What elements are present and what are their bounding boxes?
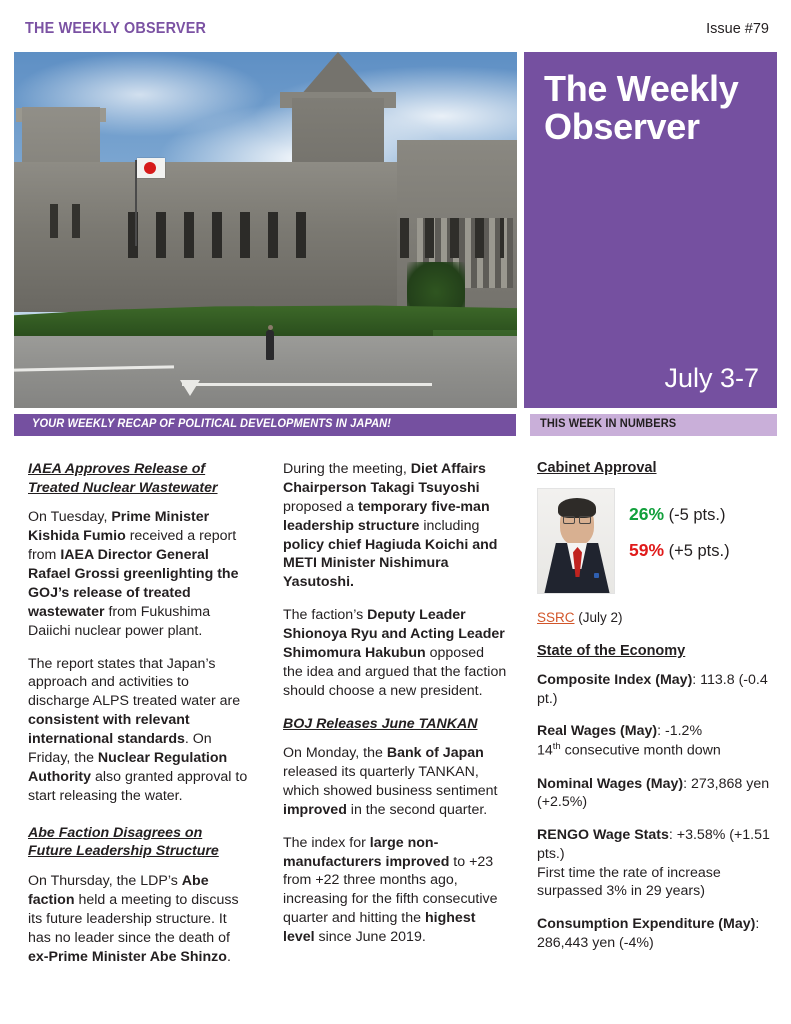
headline-iaea: IAEA Approves Release of Treated Nuclear… [28, 460, 250, 497]
numbers-bar-text: THIS WEEK IN NUMBERS [540, 418, 676, 430]
paragraph-iaea-1: On Tuesday, Prime Minister Kishida Fumio… [28, 508, 250, 640]
econ-item-real-wages: Real Wages (May): -1.2% 14th consecutive… [537, 722, 777, 760]
sidebar-numbers: Cabinet Approval 26% (-5 pts.) 59% (+5 p… [537, 460, 777, 967]
state-of-economy-title: State of the Economy [537, 643, 777, 659]
text-run: On Monday, the [283, 745, 387, 761]
road-marking-right [182, 383, 432, 386]
text-run: since June 2019. [315, 929, 426, 945]
poll-source: SSRC (July 2) [537, 610, 777, 625]
text-run-bold: Bank of Japan [387, 745, 484, 761]
econ-note: First time the rate of increase surpasse… [537, 865, 721, 900]
text-run: During the meeting, [283, 461, 411, 477]
approval-stats: 26% (-5 pts.) 59% (+5 pts.) [629, 504, 730, 576]
text-run: The index for [283, 835, 370, 851]
portrait-hair [558, 498, 596, 518]
paragraph-boj-2: The index for large non-manufacturers im… [283, 834, 507, 947]
masthead-title: The Weekly Observer [544, 70, 763, 146]
paragraph-boj-1: On Monday, the Bank of Japan released it… [283, 744, 507, 820]
econ-label: Consumption Expenditure (May) [537, 916, 755, 932]
econ-label: RENGO Wage Stats [537, 827, 669, 843]
brand-name: THE WEEKLY OBSERVER [25, 20, 206, 38]
econ-value: : -1.2% [657, 723, 702, 739]
text-run: proposed a [283, 499, 358, 515]
paragraph-abe-1: On Thursday, the LDP’s Abe faction held … [28, 872, 250, 966]
issue-number: Issue #79 [706, 21, 769, 37]
text-run: . [227, 949, 231, 965]
page-header: THE WEEKLY OBSERVER Issue #79 [0, 0, 791, 52]
portrait-glasses-left [563, 516, 575, 524]
text-run: including [419, 518, 479, 534]
column-one: IAEA Approves Release of Treated Nuclear… [28, 460, 250, 980]
paragraph-abe-3: The faction’s Deputy Leader Shionoya Ryu… [283, 606, 507, 700]
hero-photo-diet-building [14, 52, 517, 408]
cabinet-approval-title: Cabinet Approval [537, 460, 777, 476]
text-run: The report states that Japan’s approach … [28, 656, 240, 710]
masthead-block: The Weekly Observer July 3-7 [524, 52, 777, 408]
avatar-kishida-portrait [537, 488, 615, 594]
building-windows-left [36, 204, 88, 238]
pedestrian [266, 330, 274, 360]
road-arrow-marking [180, 380, 200, 396]
econ-item-consumption-expenditure: Consumption Expenditure (May): 286,443 y… [537, 915, 777, 952]
portrait-lapel-pin [594, 573, 599, 578]
text-run-bold: ex-Prime Minister Abe Shinzo [28, 949, 227, 965]
paragraph-abe-2: During the meeting, Diet Affairs Chairpe… [283, 460, 507, 592]
headline-boj: BOJ Releases June TANKAN [283, 715, 507, 734]
building-windows-right [384, 218, 504, 258]
approval-rate-line: 26% (-5 pts.) [629, 504, 730, 526]
tagline-text: YOUR WEEKLY RECAP OF POLITICAL DEVELOPME… [32, 418, 391, 430]
text-run: The faction’s [283, 607, 367, 623]
newsletter-page: THE WEEKLY OBSERVER Issue #79 The Weekly… [0, 0, 791, 1024]
disapproval-rate-change: (+5 pts.) [664, 542, 730, 560]
japanese-flag-icon [137, 158, 165, 178]
masthead-date: July 3-7 [664, 363, 759, 394]
tree [407, 262, 465, 312]
text-run-bold: improved [283, 802, 347, 818]
econ-note-superscript: th [553, 741, 561, 752]
econ-item-composite-index: Composite Index (May): 113.8 (-0.4 pt.) [537, 671, 777, 708]
text-run: released its quarterly TANKAN, which sho… [283, 764, 498, 799]
text-run: in the second quarter. [347, 802, 487, 818]
building-windows-center [110, 212, 310, 258]
disapproval-rate-line: 59% (+5 pts.) [629, 540, 730, 562]
cabinet-approval-row: 26% (-5 pts.) 59% (+5 pts.) [537, 488, 777, 606]
approval-rate-change: (-5 pts.) [664, 506, 725, 524]
text-run-bold: policy chief Hagiuda Koichi and METI Min… [283, 537, 497, 591]
text-run: On Tuesday, [28, 509, 111, 525]
text-run-bold: consistent with relevant international s… [28, 712, 190, 747]
building-pyramid-roof [300, 52, 376, 96]
paragraph-iaea-2: The report states that Japan’s approach … [28, 655, 250, 806]
headline-abe-faction: Abe Faction Disagrees on Future Leadersh… [28, 824, 250, 861]
column-two: During the meeting, Diet Affairs Chairpe… [283, 460, 507, 961]
econ-item-nominal-wages: Nominal Wages (May): 273,868 yen (+2.5%) [537, 775, 777, 812]
econ-note-prefix: 14 [537, 743, 553, 759]
econ-label: Composite Index (May) [537, 672, 692, 688]
tagline-bar: YOUR WEEKLY RECAP OF POLITICAL DEVELOPME… [14, 414, 516, 436]
econ-label: Nominal Wages (May) [537, 776, 683, 792]
this-week-in-numbers-bar: THIS WEEK IN NUMBERS [530, 414, 777, 436]
econ-item-rengo-wage-stats: RENGO Wage Stats: +3.58% (+1.51 pts.) Fi… [537, 826, 777, 901]
source-date: (July 2) [575, 610, 623, 625]
econ-label: Real Wages (May) [537, 723, 657, 739]
approval-rate-value: 26% [629, 504, 664, 524]
disapproval-rate-value: 59% [629, 540, 664, 560]
source-link-ssrc[interactable]: SSRC [537, 610, 575, 625]
portrait-glasses-right [579, 516, 591, 524]
text-run: On Thursday, the LDP’s [28, 873, 182, 889]
econ-note-suffix: consecutive month down [561, 743, 721, 759]
